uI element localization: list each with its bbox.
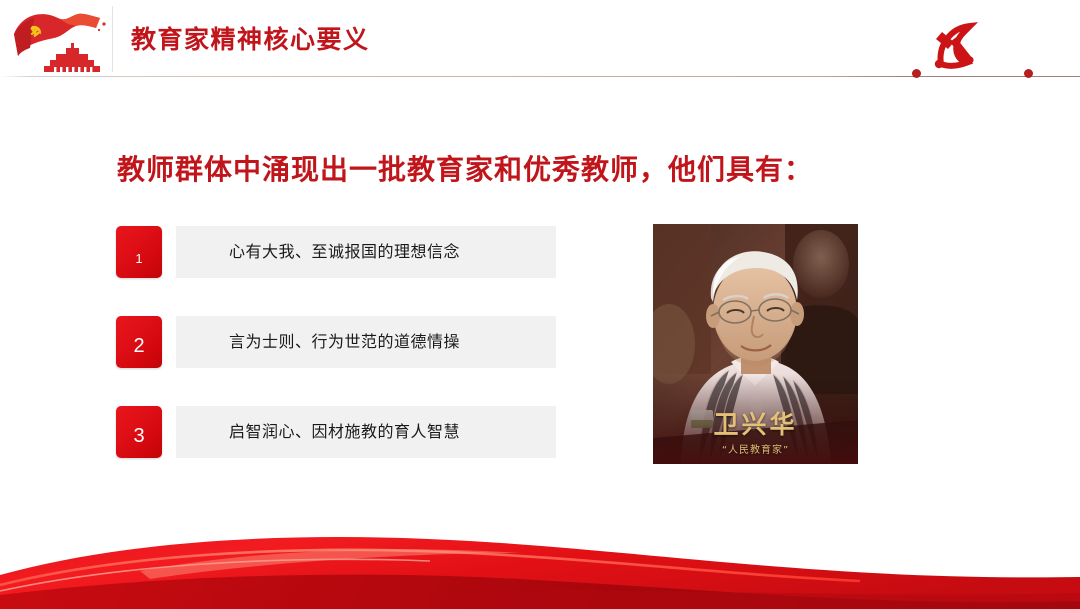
portrait-photo: 卫兴华 “人民教育家” <box>653 224 858 464</box>
portrait-photo-image <box>653 224 858 464</box>
header-rule-dot-right <box>1024 69 1033 78</box>
list-item[interactable]: 2 言为士则、行为世范的道德情操 <box>116 316 556 368</box>
hammer-and-sickle-icon <box>926 16 992 76</box>
header-rule-dot-left <box>912 69 921 78</box>
bullet-text-box: 心有大我、至诚报国的理想信念 <box>176 226 556 278</box>
bullet-number-badge: 1 <box>116 226 162 278</box>
slide-header: 教育家精神核心要义 <box>0 0 1080 80</box>
bullet-list: 1 心有大我、至诚报国的理想信念 2 言为士则、行为世范的道德情操 3 启智润心… <box>116 226 556 458</box>
bullet-text: 心有大我、至诚报国的理想信念 <box>229 241 460 263</box>
list-item[interactable]: 3 启智润心、因材施教的育人智慧 <box>116 406 556 458</box>
slide-canvas: 教育家精神核心要义 教师群体中涌现出一批教育家和优秀教师 <box>0 0 1080 609</box>
main-heading: 教师群体中涌现出一批教育家和优秀教师，他们具有： <box>117 152 813 188</box>
red-silk-ribbon-wave <box>0 519 1080 609</box>
header-vertical-divider <box>112 6 113 72</box>
bullet-number: 2 <box>133 336 144 368</box>
bullet-text-box: 启智润心、因材施教的育人智慧 <box>176 406 556 458</box>
bullet-number-badge: 2 <box>116 316 162 368</box>
list-item[interactable]: 1 心有大我、至诚报国的理想信念 <box>116 226 556 278</box>
party-flag-tiananmen-logo <box>8 4 112 76</box>
bullet-text: 言为士则、行为世范的道德情操 <box>229 331 460 353</box>
bullet-number: 1 <box>135 252 142 278</box>
bullet-number: 3 <box>133 426 144 458</box>
bullet-text-box: 言为士则、行为世范的道德情操 <box>176 316 556 368</box>
bullet-number-badge: 3 <box>116 406 162 458</box>
page-title: 教育家精神核心要义 <box>131 27 370 52</box>
bullet-text: 启智润心、因材施教的育人智慧 <box>229 421 460 443</box>
